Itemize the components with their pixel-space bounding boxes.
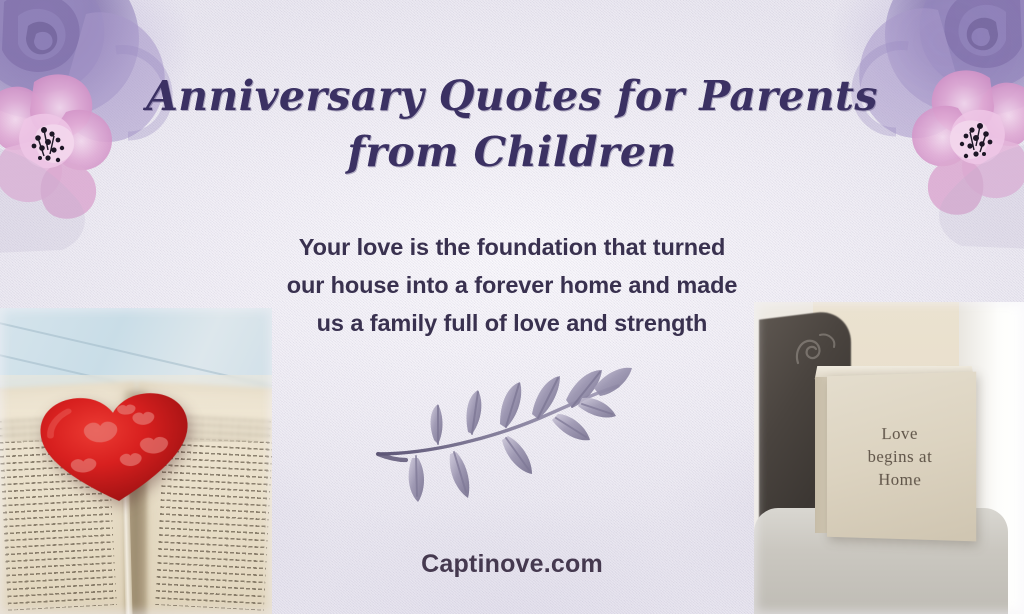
leaf-branch-icon — [372, 362, 656, 512]
sign-text: Love begins at Home — [827, 371, 976, 541]
quote-line-1: Your love is the foundation that turned — [262, 228, 762, 266]
quote-line-2: our house into a forever home and made — [262, 266, 762, 304]
page-title: Anniversary Quotes for Parents from Chil… — [0, 68, 1024, 180]
sign-line-1: Love — [882, 422, 918, 445]
title-line-2: from Children — [0, 124, 1024, 180]
scroll-motif-icon — [792, 327, 838, 371]
site-name: Captinove.com — [0, 550, 1024, 579]
sign-line-3: Home — [878, 468, 921, 491]
title-line-1: Anniversary Quotes for Parents — [0, 68, 1024, 124]
sign-block: Love begins at Home — [827, 371, 976, 541]
heart-icon — [34, 385, 197, 512]
sign-line-2: begins at — [868, 445, 933, 468]
quote-text: Your love is the foundation that turned … — [262, 228, 762, 342]
poster-canvas: Anniversary Quotes for Parents from Chil… — [0, 0, 1024, 614]
quote-line-3: us a family full of love and strength — [262, 304, 762, 342]
